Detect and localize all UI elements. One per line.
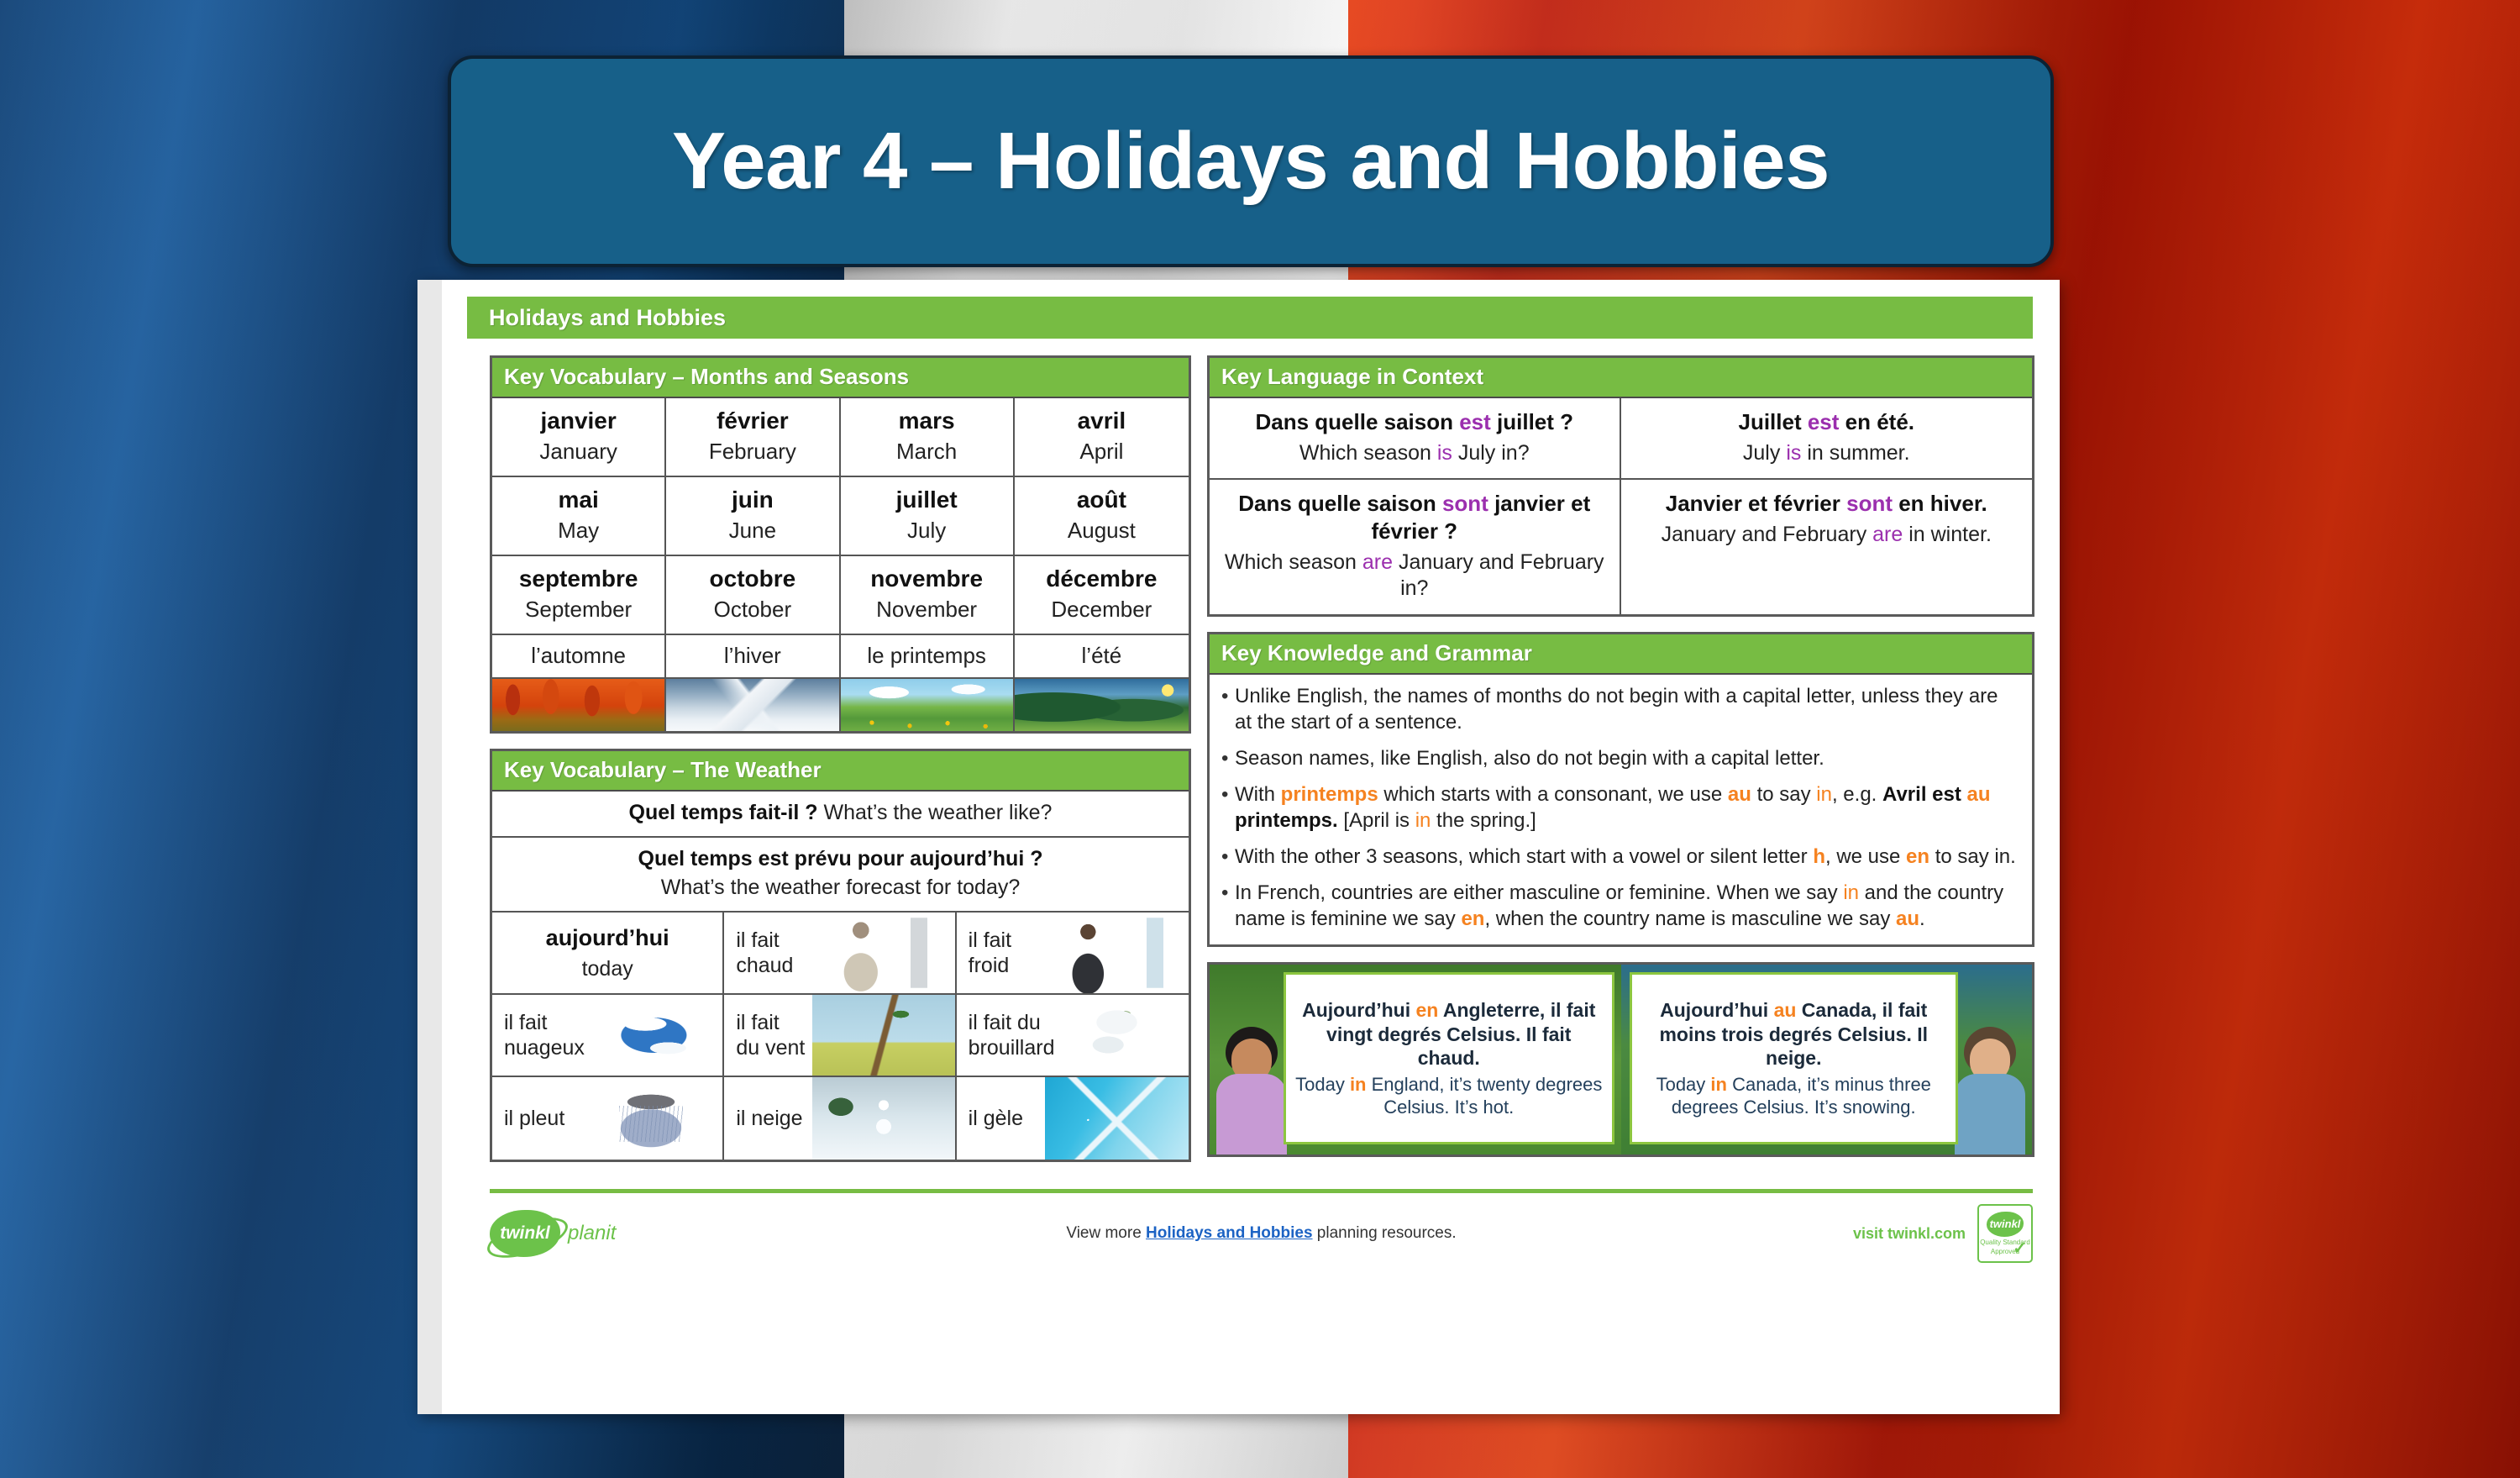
weather-cell: il pleut [492,1077,724,1160]
context-answer-french: Juillet est en été. [1631,408,2023,436]
example-sentence-cards: Aujourd’hui en Angleterre, il fait vingt… [1207,962,2034,1157]
weather-cell-text: il faitdu vent [724,1010,805,1061]
weather-cell-text: il faitchaud [724,928,793,979]
weather-en: today [492,956,722,982]
weather-cell-text: il pleut [492,1106,564,1132]
grammar-panel: Key Knowledge and Grammar •Unlike Englis… [1207,632,2034,947]
grammar-bullet: •With printemps which starts with a cons… [1221,781,2019,834]
month-english: December [1018,597,1185,623]
month-french: mars [844,408,1010,434]
month-french: février [669,408,835,434]
weather-question-1: Quel temps fait-il ? What’s the weather … [492,792,1189,838]
month-french: avril [1018,408,1185,434]
months-panel-heading: Key Vocabulary – Months and Seasons [492,358,1189,398]
weather-cell-text: il faitfroid [957,928,1011,979]
grammar-bullet: •With the other 3 seasons, which start w… [1221,844,2019,870]
month-cell: septembreSeptember [492,556,666,635]
context-question-french: Dans quelle saison sont janvier et févri… [1220,490,1609,545]
month-english: June [669,518,835,544]
month-french: janvier [496,408,661,434]
context-question-english: Which season are January and February in… [1220,550,1609,602]
season-cell: l’hiver [666,635,840,731]
weather-q2-fr: Quel temps est prévu pour aujourd’hui ? [501,847,1180,871]
grammar-bullet-text: In French, countries are either masculin… [1235,880,2019,933]
quality-standard-badge-icon: twinkl Quality Standard Approved ✓ [1977,1204,2033,1263]
foggy-tree-photo [1045,995,1189,1076]
page-footer: twinkl planit View more Holidays and Hob… [490,1193,2033,1274]
footer-right-group: visit twinkl.com twinkl Quality Standard… [1853,1204,2033,1263]
month-english: January [496,439,661,465]
weather-cell-text: il fait dubrouillard [957,1010,1055,1061]
weather-question-2: Quel temps est prévu pour aujourd’hui ? … [492,838,1189,913]
context-question-cell: Dans quelle saison est juillet ?Which se… [1210,398,1621,480]
weather-cell: il neige [724,1077,956,1160]
check-mark-icon: ✓ [2013,1238,2027,1259]
woman-coat-thermometer-photo [1045,913,1189,993]
weather-fr-line1: il neige [736,1106,802,1132]
month-french: juin [669,487,835,513]
months-grid: janvierJanuaryfévrierFebruarymarsMarchav… [492,398,1189,635]
weather-fr-line2: chaud [736,953,793,979]
bullet-icon: • [1221,745,1235,772]
rain-cloud-photo [580,1077,722,1160]
twinkl-blob-icon: twinkl [490,1210,560,1257]
context-grid: Dans quelle saison est juillet ?Which se… [1210,398,2032,614]
footer-resource-text: View more Holidays and Hobbies planning … [1066,1224,1456,1243]
weather-cell-text: il faitnuageux [492,1010,585,1061]
example-english: Today in Canada, it’s minus three degree… [1639,1073,1950,1119]
weather-cell: il gèle [957,1077,1189,1160]
page-title: Year 4 – Holidays and Hobbies [672,115,1830,208]
context-answer-french: Janvier et février sont en hiver. [1631,490,2023,518]
grammar-bullet: •In French, countries are either masculi… [1221,880,2019,933]
page-topbar: Holidays and Hobbies [467,297,2033,339]
context-answer-cell: Janvier et février sont en hiver.January… [1621,480,2033,614]
weather-q1-fr: Quel temps fait-il ? [629,801,818,824]
bullet-icon: • [1221,781,1235,834]
month-cell: maiMay [492,477,666,556]
weather-cell-text: il neige [724,1106,802,1132]
context-question-french: Dans quelle saison est juillet ? [1220,408,1609,436]
month-french: décembre [1018,565,1185,592]
season-label: le printemps [841,635,1013,679]
month-english: November [844,597,1010,623]
weather-q2-en: What’s the weather forecast for today? [501,876,1180,900]
weather-cell-text: il gèle [957,1106,1023,1132]
grammar-panel-heading: Key Knowledge and Grammar [1210,634,2032,675]
weather-cell: il faitfroid [957,913,1189,995]
weather-fr-line1: il gèle [969,1106,1023,1132]
bullet-icon: • [1221,844,1235,870]
month-english: March [844,439,1010,465]
visit-twinkl-url[interactable]: visit twinkl.com [1853,1225,1966,1243]
knowledge-organiser-page: Holidays and Hobbies Key Vocabulary – Mo… [417,280,2060,1414]
month-english: July [844,518,1010,544]
page-left-gutter [417,280,442,1414]
avatar-body [1955,1074,2025,1155]
context-question-cell: Dans quelle saison sont janvier et févri… [1210,480,1621,614]
twinkl-logo[interactable]: twinkl planit [490,1210,616,1257]
badge-twinkl-word: twinkl [1987,1212,2024,1237]
man-drinking-thermometer-photo [812,913,955,993]
example-english: Today in England, it’s twenty degrees Ce… [1293,1073,1605,1119]
context-panel: Key Language in Context Dans quelle sais… [1207,355,2034,617]
context-answer-cell: Juillet est en été.July is in summer. [1621,398,2033,480]
windy-palm-tree-photo [812,995,955,1076]
footer-text-before: View more [1066,1224,1146,1242]
month-cell: juinJune [666,477,840,556]
month-cell: janvierJanuary [492,398,666,477]
weather-fr-line2: brouillard [969,1035,1055,1061]
season-cell: l’été [1015,635,1189,731]
bullet-icon: • [1221,880,1235,933]
month-cell: novembreNovember [841,556,1015,635]
grammar-bullet-text: With printemps which starts with a conso… [1235,781,2019,834]
month-cell: octobreOctober [666,556,840,635]
month-cell: décembreDecember [1015,556,1189,635]
weather-fr-line1: il fait [736,1010,805,1036]
month-french: octobre [669,565,835,592]
clouds-photo [580,995,722,1076]
weather-fr-line1: il fait [736,928,793,954]
weather-cell: il fait dubrouillard [957,995,1189,1077]
month-cell: févrierFebruary [666,398,840,477]
months-seasons-panel: Key Vocabulary – Months and Seasons janv… [490,355,1191,734]
boy-canada-avatar [1950,995,2030,1155]
example-card: Aujourd’hui au Canada, il fait moins tro… [1621,965,2033,1155]
snowman-photo [812,1077,955,1160]
month-english: April [1018,439,1185,465]
month-french: novembre [844,565,1010,592]
grammar-bullet-list: •Unlike English, the names of months do … [1210,675,2032,944]
month-french: septembre [496,565,661,592]
avatar-body [1216,1074,1287,1155]
grammar-bullet: •Unlike English, the names of months do … [1221,683,2019,736]
grammar-bullet-text: Unlike English, the names of months do n… [1235,683,2019,736]
month-english: August [1018,518,1185,544]
bullet-icon: • [1221,683,1235,736]
month-cell: juilletJuly [841,477,1015,556]
example-french: Aujourd’hui en Angleterre, il fait vingt… [1293,998,1605,1070]
example-french: Aujourd’hui au Canada, il fait moins tro… [1639,998,1950,1070]
weather-q1-en: What’s the weather like? [824,801,1053,824]
month-english: February [669,439,835,465]
weather-fr-line2: nuageux [504,1035,585,1061]
summer-hills-sun-photo [1015,679,1189,731]
season-label: l’été [1015,635,1189,679]
month-english: May [496,518,661,544]
footer-resource-link[interactable]: Holidays and Hobbies [1146,1224,1312,1242]
weather-fr-line1: il fait [504,1010,585,1036]
footer-text-after: planning resources. [1313,1224,1457,1242]
month-english: September [496,597,661,623]
month-french: juillet [844,487,1010,513]
weather-cell: il faitnuageux [492,995,724,1077]
season-cell: l’automne [492,635,666,731]
weather-cell: aujourd’huitoday [492,913,724,995]
autumn-forest-photo [492,679,664,731]
weather-grid: aujourd’huitodayil faitchaudil faitfroid… [492,913,1189,1160]
context-answer-english: January and February are in winter. [1631,522,2023,549]
season-label: l’hiver [666,635,838,679]
weather-fr-line1: il pleut [504,1106,564,1132]
weather-fr-line2: froid [969,953,1011,979]
speech-bubble: Aujourd’hui au Canada, il fait moins tro… [1630,972,1959,1144]
month-french: mai [496,487,661,513]
seasons-grid: l’automnel’hiverle printempsl’été [492,635,1189,731]
weather-panel-heading: Key Vocabulary – The Weather [492,751,1189,792]
season-label: l’automne [492,635,664,679]
ice-snowflake-photo [1045,1077,1189,1160]
spring-daffodils-photo [841,679,1013,731]
weather-cell-text: aujourd’huitoday [492,924,722,981]
weather-fr: aujourd’hui [492,924,722,952]
weather-fr-line1: il fait du [969,1010,1055,1036]
month-cell: aoûtAugust [1015,477,1189,556]
context-question-english: Which season is July in? [1220,440,1609,467]
month-cell: avrilApril [1015,398,1189,477]
title-banner: Year 4 – Holidays and Hobbies [448,55,2054,267]
weather-fr-line1: il fait [969,928,1011,954]
weather-panel: Key Vocabulary – The Weather Quel temps … [490,749,1191,1162]
right-column: Key Language in Context Dans quelle sais… [1207,355,2034,1177]
context-panel-heading: Key Language in Context [1210,358,2032,398]
example-card: Aujourd’hui en Angleterre, il fait vingt… [1210,965,1621,1155]
month-cell: marsMarch [841,398,1015,477]
speech-bubble: Aujourd’hui en Angleterre, il fait vingt… [1284,972,1614,1144]
weather-cell: il faitchaud [724,913,956,995]
weather-fr-line2: du vent [736,1035,805,1061]
grammar-bullet-text: With the other 3 seasons, which start wi… [1235,844,2019,870]
context-answer-english: July is in summer. [1631,440,2023,467]
girl-england-avatar [1211,995,1292,1155]
month-english: October [669,597,835,623]
page-topbar-title: Holidays and Hobbies [489,305,726,331]
left-column: Key Vocabulary – Months and Seasons janv… [490,355,1191,1177]
planit-logo-word: planit [568,1222,616,1245]
weather-cell: il faitdu vent [724,995,956,1077]
month-french: août [1018,487,1185,513]
season-cell: le printemps [841,635,1015,731]
winter-mountains-photo [666,679,838,731]
twinkl-logo-word: twinkl [500,1223,550,1244]
grammar-bullet-text: Season names, like English, also do not … [1235,745,2019,772]
grammar-bullet: •Season names, like English, also do not… [1221,745,2019,772]
